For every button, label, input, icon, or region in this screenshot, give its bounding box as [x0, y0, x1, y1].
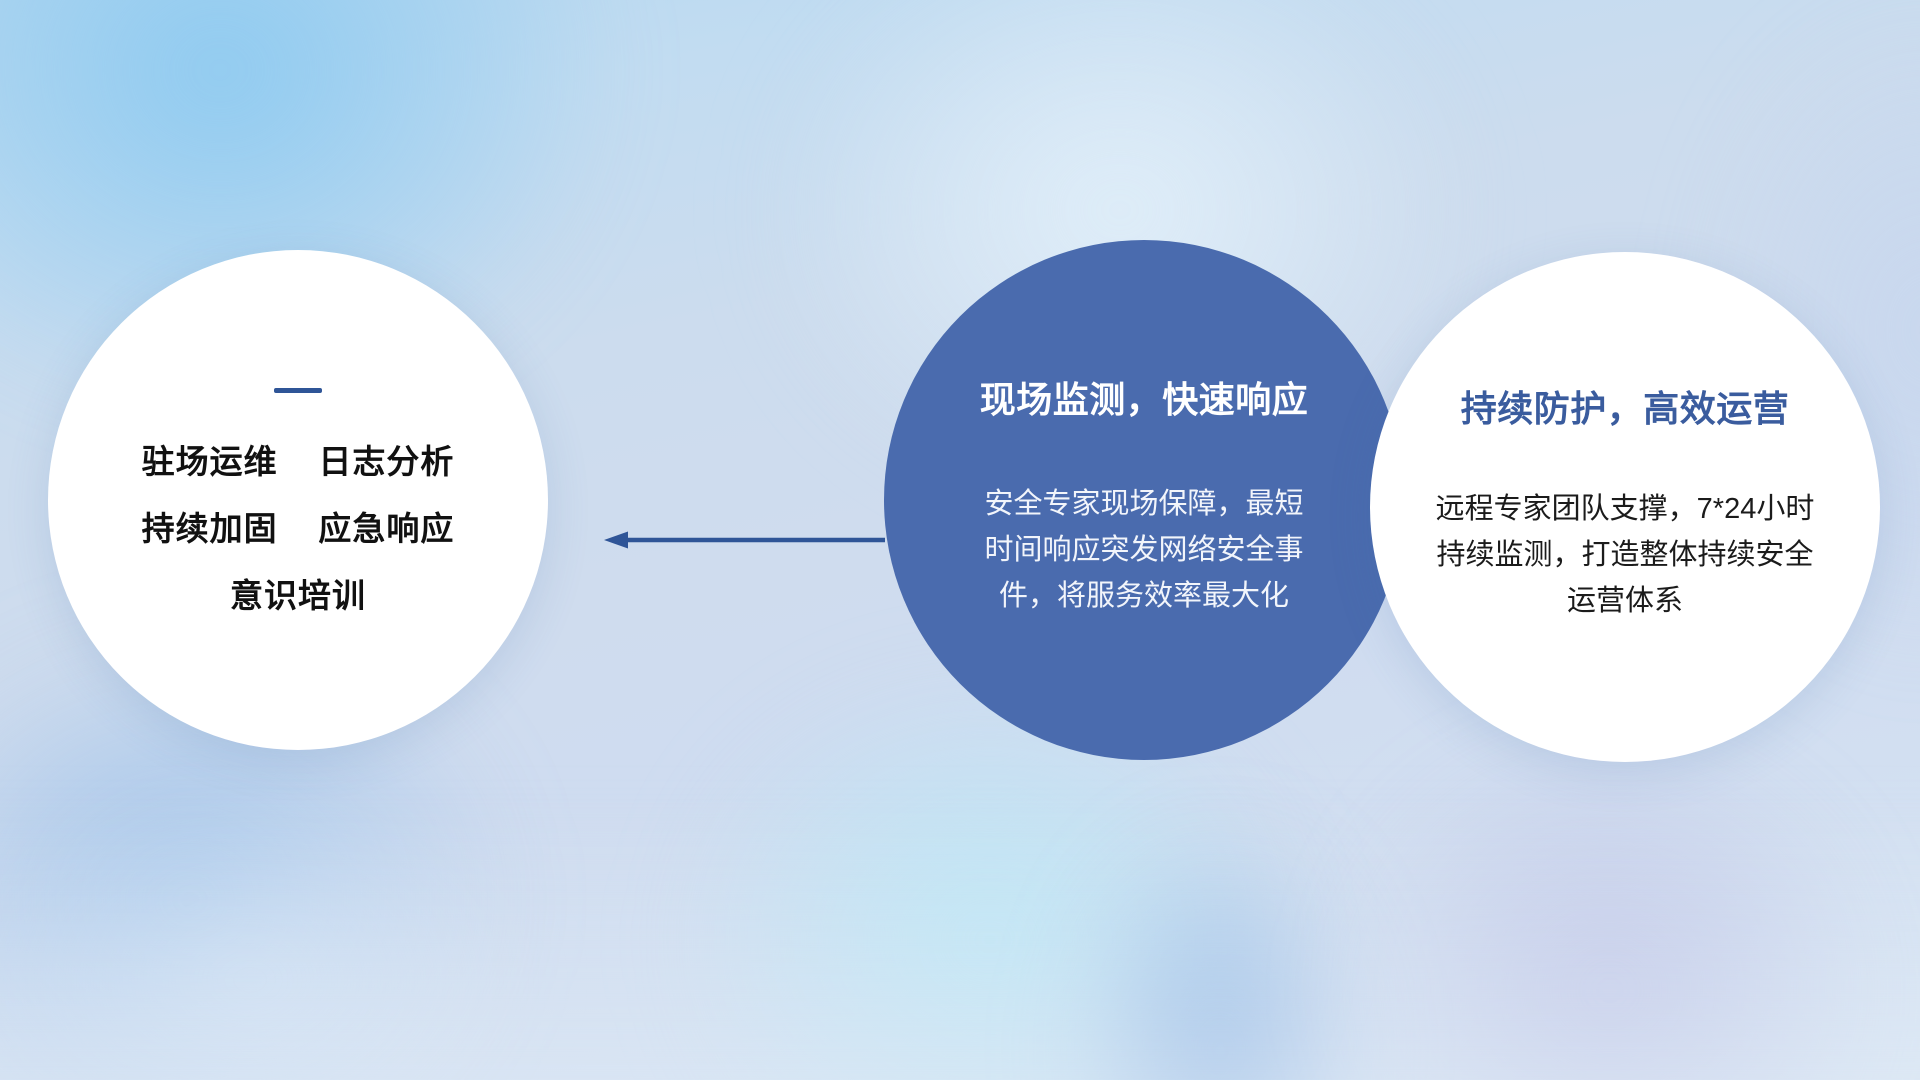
short-horizontal-rule-icon: [274, 388, 322, 393]
capabilities-circle: 驻场运维 日志分析 持续加固 应急响应 意识培训: [48, 250, 548, 750]
continuous-circle-title: 持续防护，高效运营: [1461, 389, 1790, 429]
slide-canvas: 驻场运维 日志分析 持续加固 应急响应 意识培训 现场监测，快速响应 安全专家现…: [0, 0, 1920, 1080]
onsite-circle-body: 安全专家现场保障，最短时间响应突发网络安全事件，将服务效率最大化: [979, 482, 1309, 619]
left-arrow-icon: [602, 528, 886, 552]
continuous-operation-circle: 持续防护，高效运营 远程专家团队支撑，7*24小时持续监测，打造整体持续安全运营…: [1370, 252, 1880, 762]
capability-line-2: 持续加固 应急响应: [142, 512, 455, 545]
onsite-circle-title: 现场监测，快速响应: [980, 380, 1309, 420]
background-blob-mist-bottom-left: [0, 700, 650, 1080]
capability-line-1: 驻场运维 日志分析: [142, 445, 455, 478]
capability-line-3: 意识培训: [230, 579, 366, 612]
background-blob-blue-streak: [1010, 740, 1430, 1080]
onsite-monitoring-circle: 现场监测，快速响应 安全专家现场保障，最短时间响应突发网络安全事件，将服务效率最…: [884, 240, 1404, 760]
continuous-circle-body: 远程专家团队支撑，7*24小时持续监测，打造整体持续安全运营体系: [1423, 487, 1827, 624]
background-blob-bottom-wash: [0, 800, 1920, 1080]
